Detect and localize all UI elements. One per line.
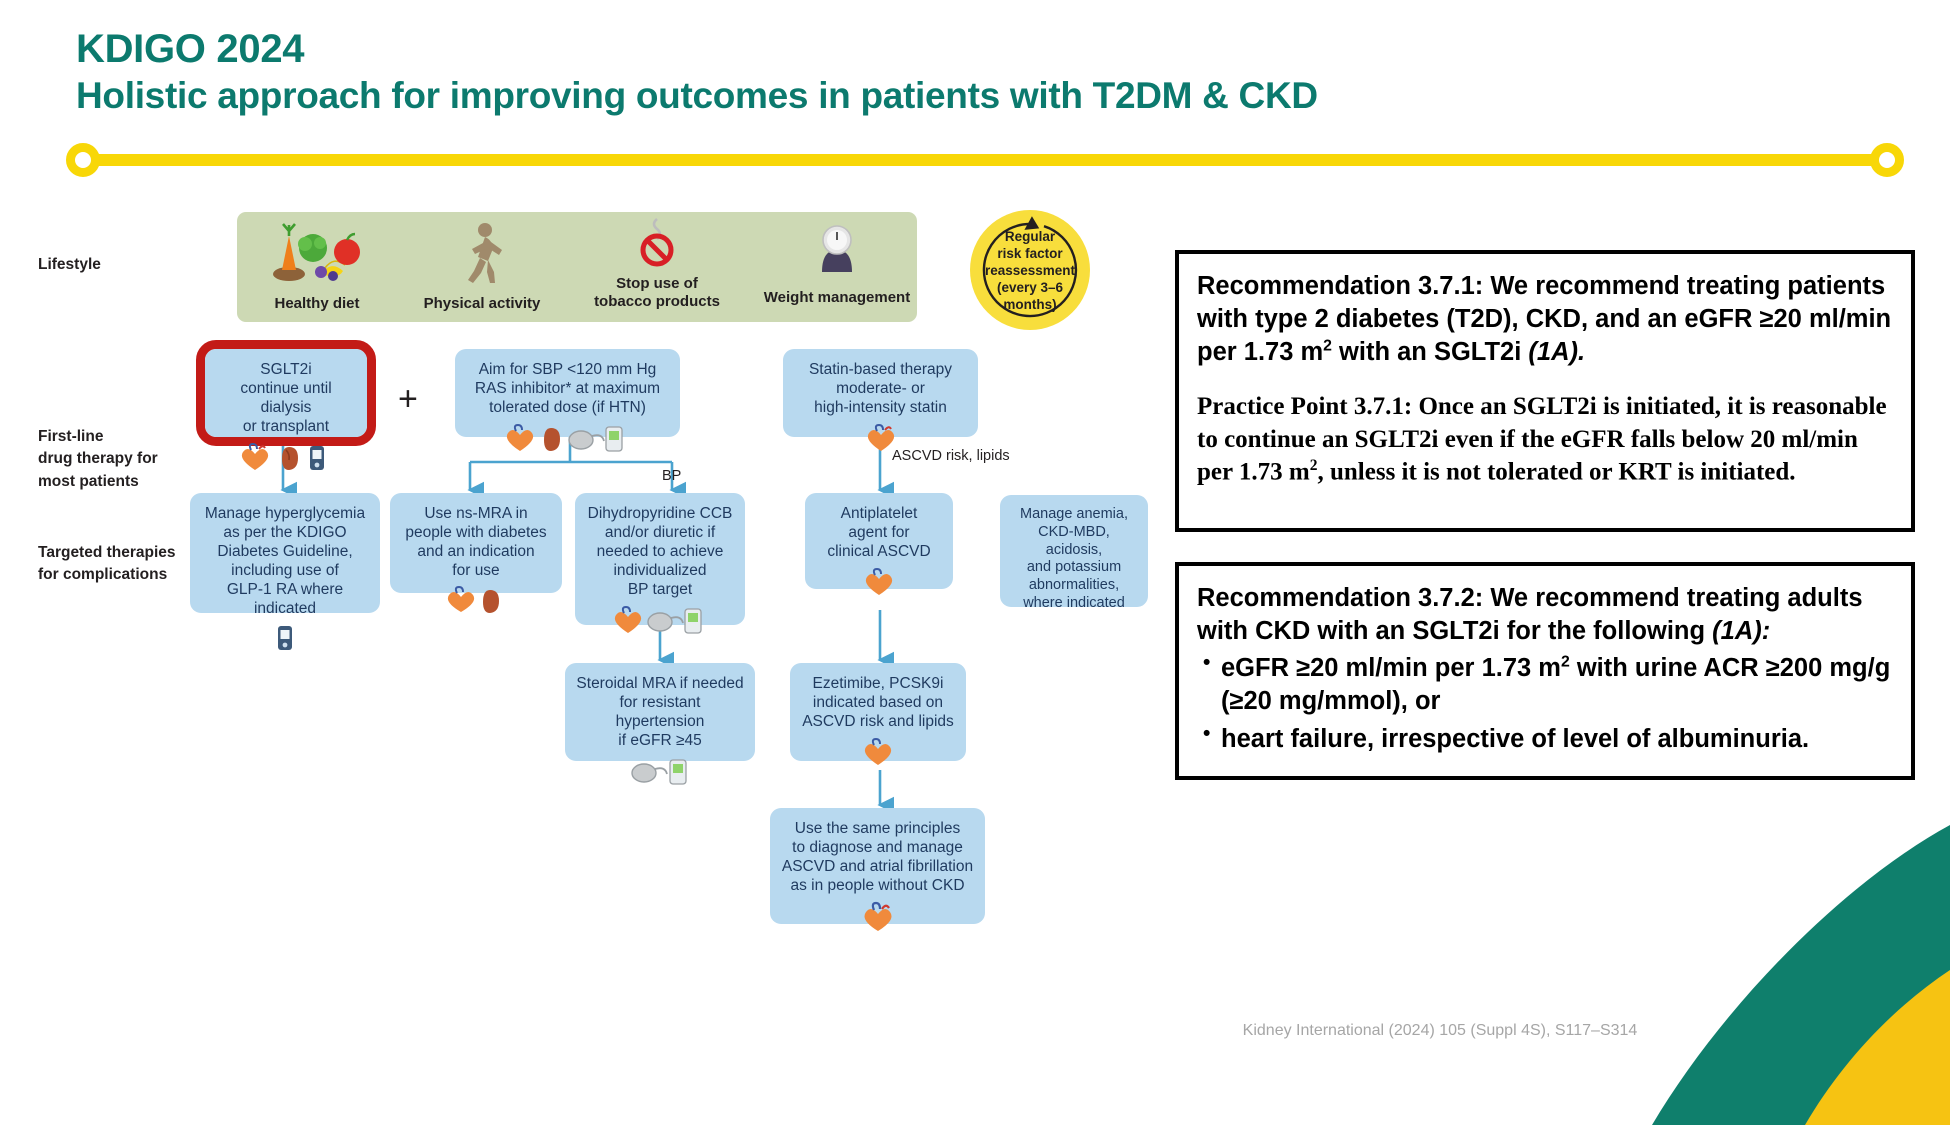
kidney-icon <box>544 428 560 451</box>
node-ns-mra-icons <box>398 586 554 618</box>
node-bp-ras-icons <box>463 423 672 457</box>
heart-icon <box>448 587 474 612</box>
practice-point-371-text: Practice Point 3.7.1: Once an SGLT2i is … <box>1197 391 1893 489</box>
recommendation-box-372: Recommendation 3.7.2: We recommend treat… <box>1175 562 1915 780</box>
divider-bar <box>78 154 1876 166</box>
node-anemia-text: Manage anemia,CKD-MBD, acidosis,and pota… <box>1008 506 1140 613</box>
lifestyle-label-physical-activity: Physical activity <box>397 295 567 313</box>
heart-icon <box>861 901 895 933</box>
holistic-approach-diagram: Lifestyle First-linedrug therapy formost… <box>0 190 1180 1125</box>
node-ccb-text: Dihydropyridine CCBand/or diuretic ifnee… <box>583 504 737 599</box>
lifestyle-label-stop-tobacco-l1: Stop use of <box>567 275 747 293</box>
row-label-lifestyle-text: Lifestyle <box>38 256 101 273</box>
kidney-icon <box>483 590 499 613</box>
lifestyle-item-weight-management[interactable]: Weight management <box>747 220 927 307</box>
node-ns-mra[interactable]: Use ns-MRA inpeople with diabetesand an … <box>390 493 562 593</box>
node-statin-therapy[interactable]: Statin-based therapymoderate- orhigh-int… <box>783 349 978 437</box>
node-ezetimibe-pcsk9i[interactable]: Ezetimibe, PCSK9iindicated based onASCVD… <box>790 663 966 761</box>
kidney-icon <box>282 447 298 470</box>
bp-monitor-icon <box>670 760 686 784</box>
connector-label-ascvd: ASCVD risk, lipids <box>892 448 1010 464</box>
node-antiplatelet-icons <box>813 567 945 601</box>
node-antiplatelet[interactable]: Antiplateletagent forclinical ASCVD <box>805 493 953 589</box>
weight-scale-icon <box>810 220 864 280</box>
node-steroidal-mra-icons <box>573 756 747 790</box>
bp-monitor-icon <box>606 427 622 451</box>
node-statin-text: Statin-based therapymoderate- orhigh-int… <box>791 360 970 417</box>
slide-canvas: KDIGO 2024 Holistic approach for improvi… <box>0 0 1950 1125</box>
risk-reassessment-text: Regularrisk factorreassessment(every 3–6… <box>985 228 1075 313</box>
glucometer-icon <box>310 446 324 470</box>
node-bp-ras-inhibitor[interactable]: Aim for SBP <120 mm HgRAS inhibitor* at … <box>455 349 680 437</box>
page-title: KDIGO 2024 Holistic approach for improvi… <box>76 28 1318 121</box>
node-manage-anemia[interactable]: Manage anemia,CKD-MBD, acidosis,and pota… <box>1000 495 1148 607</box>
node-steroidal-mra[interactable]: Steroidal MRA if neededfor resistant hyp… <box>565 663 755 761</box>
plus-sign: + <box>398 380 418 419</box>
lifestyle-label-healthy-diet: Healthy diet <box>237 295 397 313</box>
node-sglt2i[interactable]: SGLT2icontinue until dialysisor transpla… <box>205 349 367 437</box>
node-same-principles[interactable]: Use the same principlesto diagnose and m… <box>770 808 985 924</box>
node-sglt2i-icons <box>213 442 359 476</box>
node-principles-text: Use the same principlesto diagnose and m… <box>778 819 977 895</box>
lifestyle-label-stop-tobacco-l2: tobacco products <box>567 293 747 311</box>
divider-ring-right <box>1870 143 1904 177</box>
row-label-first-line: First-linedrug therapy formost patients <box>38 426 158 493</box>
lifestyle-item-healthy-diet[interactable]: Healthy diet <box>237 222 397 313</box>
node-manage-hyperglycemia[interactable]: Manage hyperglycemiaas per the KDIGODiab… <box>190 493 380 613</box>
connector-lines <box>0 190 1180 1125</box>
heart-icon <box>863 567 895 597</box>
node-bp-ras-text: Aim for SBP <120 mm HgRAS inhibitor* at … <box>463 360 672 417</box>
recommendation-372-text: Recommendation 3.7.2: We recommend treat… <box>1197 582 1893 648</box>
bp-cuff-icon <box>632 764 667 782</box>
recommendation-372-bullet-1: eGFR ≥20 ml/min per 1.73 m2 with urine A… <box>1197 652 1893 718</box>
title-line-1: KDIGO 2024 <box>76 28 1318 71</box>
row-label-targeted: Targeted therapiesfor complications <box>38 542 176 587</box>
heart-icon <box>615 607 641 633</box>
node-ns-mra-text: Use ns-MRA inpeople with diabetesand an … <box>398 504 554 580</box>
walking-person-icon <box>455 222 509 284</box>
bp-cuff-icon <box>648 613 683 631</box>
no-smoking-icon <box>630 216 684 268</box>
corner-decoration <box>1590 795 1950 1125</box>
heart-icon <box>506 425 532 451</box>
bp-cuff-icon <box>569 431 604 449</box>
node-ezetimibe-text: Ezetimibe, PCSK9iindicated based onASCVD… <box>798 674 958 731</box>
risk-reassessment-badge: Regularrisk factorreassessment(every 3–6… <box>970 210 1090 330</box>
recommendation-372-bullets: eGFR ≥20 ml/min per 1.73 m2 with urine A… <box>1197 652 1893 755</box>
node-antiplatelet-text: Antiplateletagent forclinical ASCVD <box>813 504 945 561</box>
node-sglt2i-text: SGLT2icontinue until dialysisor transpla… <box>213 360 359 436</box>
node-hyperglycemia-text: Manage hyperglycemiaas per the KDIGODiab… <box>198 504 372 618</box>
title-divider <box>38 143 1916 177</box>
connector-label-bp: BP <box>662 468 681 484</box>
glucometer-icon <box>275 624 295 652</box>
node-ezetimibe-icons <box>798 737 958 771</box>
fruits-vegetables-icon <box>269 222 365 284</box>
lifestyle-item-stop-tobacco[interactable]: Stop use of tobacco products <box>567 216 747 311</box>
title-line-2: Holistic approach for improving outcomes… <box>76 71 1318 121</box>
heart-icon <box>242 444 268 470</box>
recommendation-372-bullet-2: heart failure, irrespective of level of … <box>1197 723 1893 756</box>
node-principles-icons <box>778 901 977 937</box>
recommendation-371-text: Recommendation 3.7.1: We recommend treat… <box>1197 270 1893 369</box>
node-hyperglycemia-icons <box>198 624 372 656</box>
node-dihydropyridine-ccb[interactable]: Dihydropyridine CCBand/or diuretic ifnee… <box>575 493 745 625</box>
lifestyle-label-weight-management: Weight management <box>747 289 927 307</box>
row-label-lifestyle: Lifestyle <box>38 254 101 276</box>
heart-icon <box>862 737 894 767</box>
recommendation-box-371: Recommendation 3.7.1: We recommend treat… <box>1175 250 1915 532</box>
node-steroidal-mra-text: Steroidal MRA if neededfor resistant hyp… <box>573 674 747 750</box>
bp-monitor-icon <box>685 609 701 633</box>
lifestyle-item-physical-activity[interactable]: Physical activity <box>397 222 567 313</box>
node-ccb-icons <box>583 605 737 639</box>
divider-ring-left <box>66 143 100 177</box>
